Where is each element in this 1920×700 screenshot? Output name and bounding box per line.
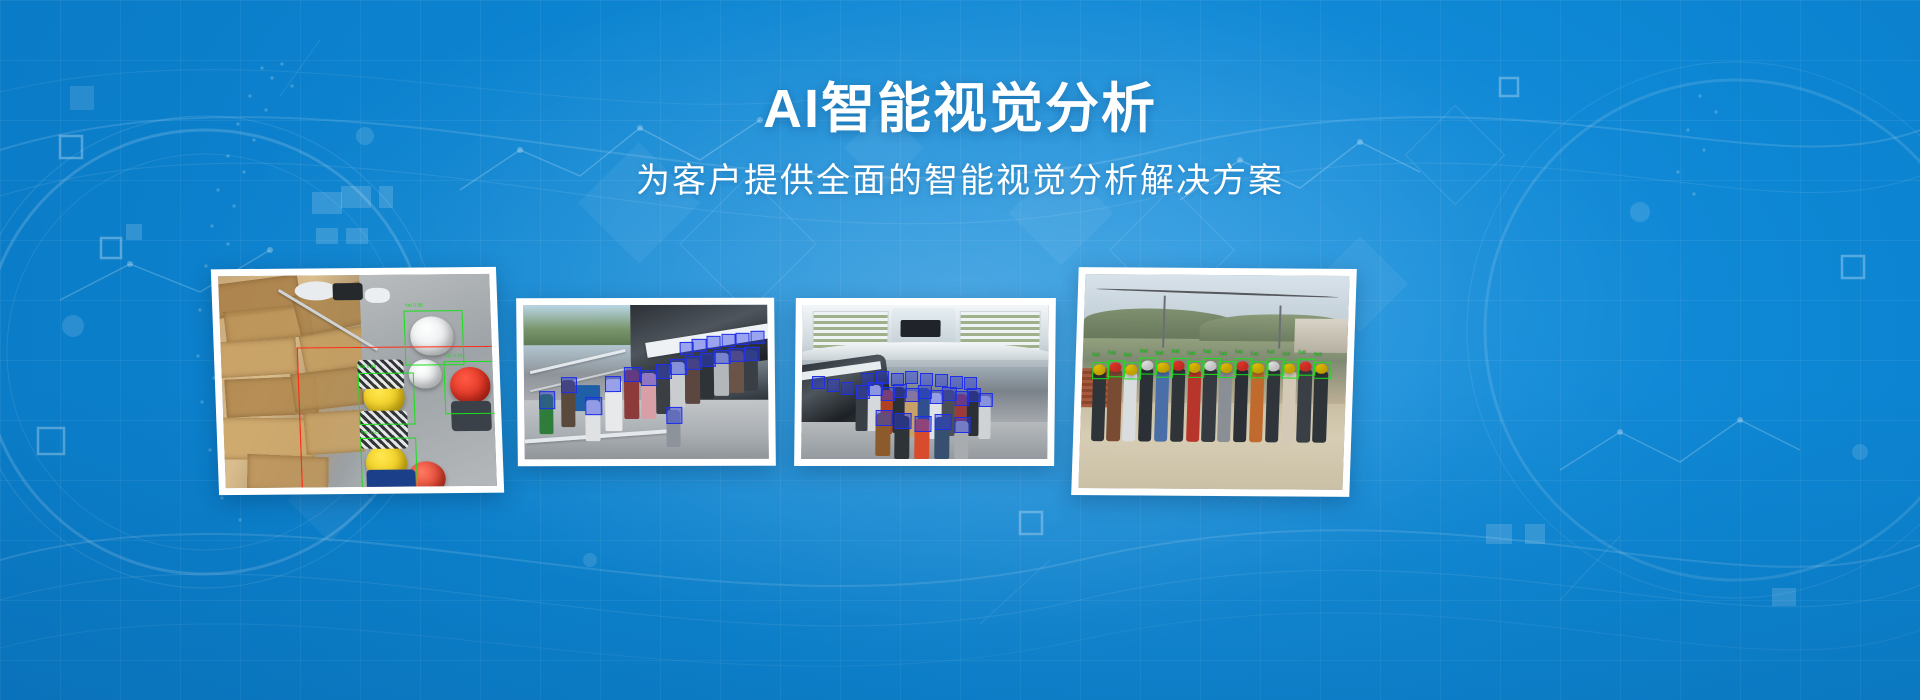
scene-pedestrian-bridge	[523, 305, 769, 459]
detection-box	[585, 397, 602, 414]
detection-box	[920, 373, 933, 386]
detection-label: hat	[1219, 352, 1227, 358]
ai-vision-banner: AI智能视觉分析 为客户提供全面的智能视觉分析解决方案	[0, 0, 1920, 700]
detection-overlay-helmets: hat 0.98 hat 0.96 hat 0.94 hat 0.93	[218, 274, 497, 488]
detection-label: hat	[1108, 351, 1116, 357]
detection-box	[934, 414, 951, 430]
detection-label: hat	[1235, 350, 1243, 356]
photo-footbridge-face-detection	[523, 305, 769, 459]
scene-warehouse: hat 0.98 hat 0.96 hat 0.94 hat 0.93	[218, 274, 497, 488]
photo-station-face-detection	[801, 305, 1049, 459]
detection-label: hat	[1314, 353, 1322, 359]
detection-label: hat	[1298, 350, 1306, 356]
detection-label: hat 0.94	[445, 354, 463, 359]
detection-label: hat	[1267, 350, 1275, 356]
detection-box	[750, 331, 764, 344]
detection-box	[357, 372, 415, 425]
banner-text: AI智能视觉分析 为客户提供全面的智能视觉分析解决方案	[0, 78, 1920, 203]
analysis-sample-gallery: hat 0.98 hat 0.96 hat 0.94 hat 0.93	[0, 258, 1920, 528]
page-title: AI智能视觉分析	[0, 78, 1920, 141]
detection-overlay-hats: hat hat hat hat hat hat hat	[1078, 274, 1349, 490]
detection-label: hat 0.98	[358, 365, 376, 370]
detection-box	[743, 346, 760, 360]
gallery-card-station[interactable]	[794, 298, 1056, 466]
detection-label: hat	[1187, 352, 1195, 358]
detection-box	[1313, 361, 1331, 378]
gallery-card-outdoor-group[interactable]: hat hat hat hat hat hat hat	[1071, 267, 1357, 497]
detection-box	[736, 333, 750, 346]
detection-box	[721, 334, 735, 347]
detection-label: hat 0.96	[405, 303, 423, 308]
detection-box	[979, 393, 993, 407]
detection-label: hat 0.93	[361, 431, 379, 436]
page-subtitle: 为客户提供全面的智能视觉分析解决方案	[0, 159, 1920, 203]
detection-box	[561, 377, 578, 393]
detection-box	[935, 374, 948, 387]
detection-label: hat	[1124, 354, 1132, 360]
detection-box	[876, 371, 889, 384]
detection-box	[539, 391, 556, 408]
scene-outdoor-group: hat hat hat hat hat hat hat	[1078, 274, 1349, 490]
detection-label: hat	[1140, 349, 1148, 355]
detection-box	[875, 410, 892, 426]
detection-box	[624, 367, 641, 383]
detection-box	[666, 407, 683, 424]
gallery-card-footbridge[interactable]	[516, 298, 776, 466]
detection-box	[964, 377, 977, 390]
detection-box	[680, 342, 694, 355]
detection-box	[915, 416, 932, 432]
detection-box	[895, 413, 912, 429]
detection-box	[444, 361, 497, 414]
detection-box	[360, 438, 418, 488]
detection-label: hat	[1203, 350, 1211, 356]
detection-label: hat	[1172, 350, 1180, 356]
detection-box	[692, 339, 706, 352]
detection-overlay-faces	[801, 305, 1049, 459]
detection-overlay-faces	[523, 305, 769, 459]
detection-label: hat	[1251, 352, 1259, 358]
detection-box	[861, 373, 874, 386]
detection-label: hat	[1156, 352, 1164, 358]
detection-label: hat	[1282, 353, 1290, 359]
gallery-card-warehouse[interactable]: hat 0.98 hat 0.96 hat 0.94 hat 0.93	[211, 267, 504, 495]
detection-box	[950, 376, 963, 389]
detection-box	[891, 373, 904, 386]
photo-outdoor-group-hat-detection: hat hat hat hat hat hat hat	[1078, 274, 1349, 490]
detection-box	[604, 376, 621, 392]
scene-train-platform	[801, 305, 1049, 459]
detection-box	[826, 379, 839, 392]
detection-label: hat	[1092, 353, 1100, 359]
detection-box	[954, 417, 971, 433]
photo-warehouse-helmet-detection: hat 0.98 hat 0.96 hat 0.94 hat 0.93	[218, 274, 497, 488]
detection-box	[841, 382, 854, 395]
detection-box	[707, 336, 721, 349]
detection-box	[812, 376, 825, 389]
detection-box	[905, 371, 918, 384]
